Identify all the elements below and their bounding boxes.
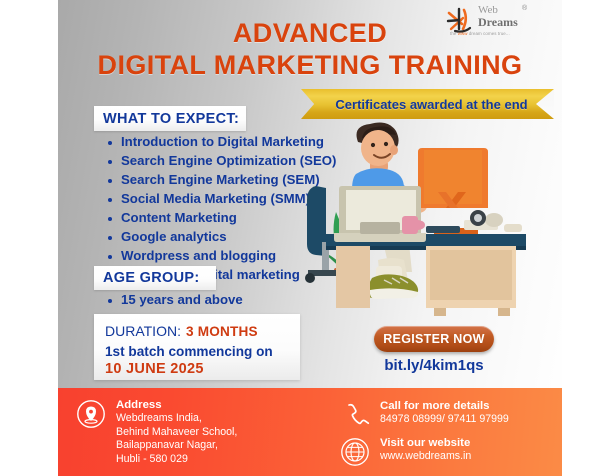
website-row[interactable]: Visit our website www.webdreams.in <box>340 436 509 464</box>
duration-value: 3 MONTHS <box>186 324 258 339</box>
age-group-heading: AGE GROUP: <box>94 266 216 290</box>
address-line: Behind Mahaveer School, <box>116 426 237 440</box>
what-to-expect-heading: WHAT TO EXPECT: <box>94 106 246 131</box>
age-group-label: AGE GROUP: <box>94 270 199 286</box>
age-group-list: 15 years and above <box>103 292 243 311</box>
duration-box: DURATION:3 MONTHS 1st batch commencing o… <box>94 314 300 380</box>
what-to-expect-label: WHAT TO EXPECT: <box>94 111 239 127</box>
flyer-poster: Web Dreams ® the www dream comes true...… <box>58 0 562 476</box>
footer-address-column: Address Webdreams India, Behind Mahaveer… <box>76 398 237 475</box>
footer-contact-bar: Address Webdreams India, Behind Mahaveer… <box>58 388 562 476</box>
batch-date: 10 JUNE 2025 <box>105 361 204 377</box>
page-title-line2: DIGITAL MARKETING TRAINING <box>58 50 562 81</box>
duration-line: DURATION:3 MONTHS <box>105 323 258 339</box>
address-line: Bailappanavar Nagar, <box>116 439 237 453</box>
website-url[interactable]: www.webdreams.in <box>380 450 509 464</box>
website-title: Visit our website <box>380 436 509 450</box>
register-now-button[interactable]: REGISTER NOW <box>374 326 494 352</box>
registration-link[interactable]: bit.ly/4kim1qs <box>374 357 494 374</box>
list-item: 15 years and above <box>103 292 243 308</box>
registered-mark: ® <box>522 5 527 12</box>
location-pin-icon <box>76 399 106 429</box>
page-title-line1: ADVANCED <box>58 18 562 49</box>
globe-icon <box>340 437 370 467</box>
ribbon-label: Certificates awarded at the end <box>327 97 527 112</box>
desk-worker-illustration <box>298 120 548 330</box>
phone-icon <box>340 400 370 430</box>
desk-graphic <box>326 234 526 316</box>
address-row: Address Webdreams India, Behind Mahaveer… <box>76 398 237 466</box>
phone-title: Call for more details <box>380 399 509 413</box>
address-line: Hubli - 580 029 <box>116 453 237 467</box>
footer-contact-column: Call for more details 84978 08999/ 97411… <box>340 399 509 472</box>
batch-line: 1st batch commencing on <box>105 344 273 359</box>
address-title: Address <box>116 398 237 412</box>
certificate-ribbon-banner: Certificates awarded at the end <box>301 89 554 119</box>
phone-row[interactable]: Call for more details 84978 08999/ 97411… <box>340 399 509 427</box>
phone-number[interactable]: 84978 08999/ 97411 97999 <box>380 413 509 427</box>
duration-label: DURATION: <box>105 323 181 339</box>
address-line: Webdreams India, <box>116 412 237 426</box>
